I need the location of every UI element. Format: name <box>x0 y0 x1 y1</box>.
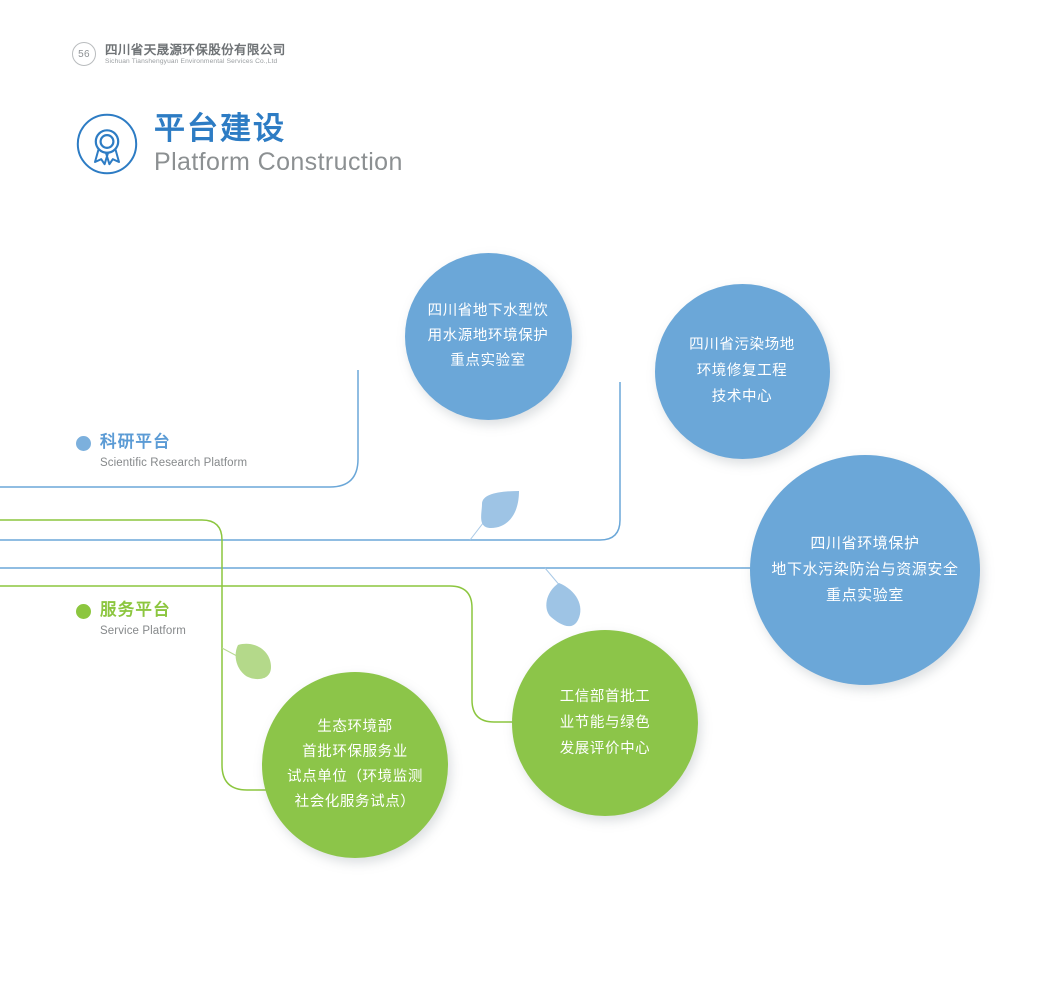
legend-scientific-research-platform: 科研平台 Scientific Research Platform <box>76 432 247 471</box>
medal-icon <box>76 113 138 175</box>
bubble-label: 四川省环境保护 地下水污染防治与资源安全 重点实验室 <box>771 531 958 609</box>
company-name-en: Sichuan Tianshengyuan Environmental Serv… <box>105 58 286 66</box>
bubble-lab-groundwater-pollution[interactable]: 四川省环境保护 地下水污染防治与资源安全 重点实验室 <box>750 455 980 685</box>
legend-dot-research <box>76 436 91 451</box>
page-subtitle: Platform Construction <box>154 148 403 176</box>
slide-canvas: 56 四川省天晟源环保股份有限公司 Sichuan Tianshengyuan … <box>0 0 1058 982</box>
page-number: 56 <box>72 42 96 66</box>
bubble-label: 四川省污染场地 环境修复工程 技术中心 <box>689 332 795 410</box>
leaf-blue-lower-icon <box>546 583 580 626</box>
bubble-label: 工信部首批工 业节能与绿色 发展评价中心 <box>560 684 651 762</box>
leaf-blue-upper-icon <box>481 491 519 528</box>
page-header: 56 四川省天晟源环保股份有限公司 Sichuan Tianshengyuan … <box>72 42 286 66</box>
company-name-cn: 四川省天晟源环保股份有限公司 <box>105 43 286 57</box>
bubble-lab-groundwater-drinking[interactable]: 四川省地下水型饮 用水源地环境保护 重点实验室 <box>405 253 572 420</box>
legend-label-cn-research: 科研平台 <box>100 432 247 453</box>
section-title: 平台建设 Platform Construction <box>76 112 403 176</box>
bubble-center-industrial-green[interactable]: 工信部首批工 业节能与绿色 发展评价中心 <box>512 630 698 816</box>
bubble-label: 四川省地下水型饮 用水源地环境保护 重点实验室 <box>428 299 549 374</box>
legend-label-cn-service: 服务平台 <box>100 600 186 621</box>
bubble-pilot-env-service-industry[interactable]: 生态环境部 首批环保服务业 试点单位（环境监测 社会化服务试点） <box>262 672 448 858</box>
legend-dot-service <box>76 604 91 619</box>
page-title: 平台建设 <box>154 112 403 147</box>
bubble-label: 生态环境部 首批环保服务业 试点单位（环境监测 社会化服务试点） <box>287 715 423 815</box>
bubble-center-contaminated-site[interactable]: 四川省污染场地 环境修复工程 技术中心 <box>655 284 830 459</box>
legend-label-en-service: Service Platform <box>100 623 186 640</box>
legend-service-platform: 服务平台 Service Platform <box>76 600 186 639</box>
legend-label-en-research: Scientific Research Platform <box>100 455 247 472</box>
leaf-green-icon <box>236 644 271 679</box>
